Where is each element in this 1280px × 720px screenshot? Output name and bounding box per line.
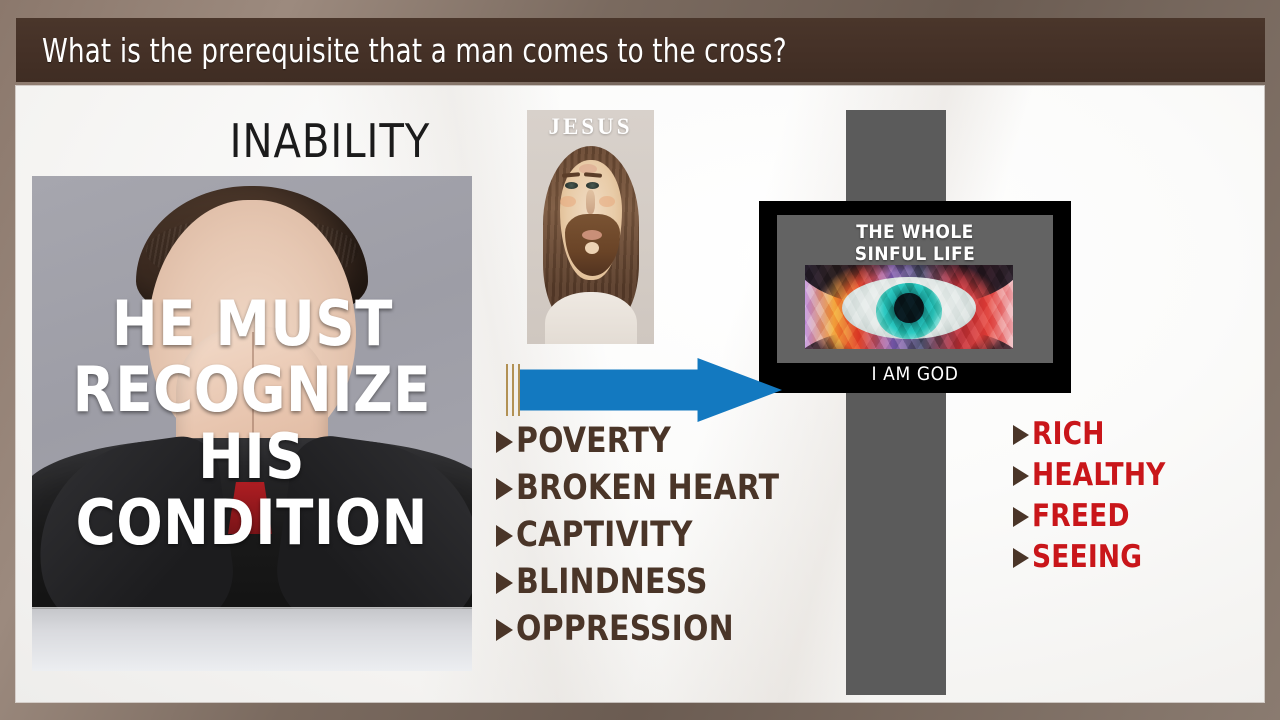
overlay-line-4: CONDITION	[76, 491, 428, 555]
framed-box-title-line1: THE WHOLE	[777, 221, 1053, 243]
list-item: CAPTIVITY	[496, 518, 793, 553]
jesus-image-label: JESUS	[527, 114, 654, 140]
list-item: FREED	[1013, 501, 1173, 532]
condition-item-label: POVERTY	[516, 424, 671, 459]
triangle-bullet-icon	[496, 478, 513, 500]
triangle-bullet-icon	[496, 431, 513, 453]
inability-heading: INABILITY	[155, 118, 504, 164]
framed-box-caption: I AM GOD	[759, 363, 1071, 385]
framed-box-title-line2: SINFUL LIFE	[777, 243, 1053, 265]
list-item: BLINDNESS	[496, 565, 793, 600]
list-item: RICH	[1013, 419, 1173, 450]
outcome-item-label: SEEING	[1032, 542, 1142, 573]
eye-polygon-texture	[805, 265, 1013, 349]
arrow-tail-stripes	[506, 364, 522, 416]
list-item: POVERTY	[496, 424, 793, 459]
triangle-bullet-icon	[1013, 507, 1029, 527]
triangle-bullet-icon	[1013, 425, 1029, 445]
triangle-bullet-icon	[496, 525, 513, 547]
triangle-bullet-icon	[1013, 466, 1029, 486]
jesus-chin-shape	[585, 242, 599, 254]
photo-overlay-text: HE MUST RECOGNIZE HIS CONDITION	[32, 176, 472, 671]
sinful-life-framed-box: THE WHOLE SINFUL LIFE I AM GOD	[759, 201, 1071, 393]
list-item: HEALTHY	[1013, 460, 1173, 491]
triangle-bullet-icon	[1013, 548, 1029, 568]
overlay-line-1: HE MUST	[111, 292, 392, 356]
triangle-bullet-icon	[496, 619, 513, 641]
condition-list: POVERTY BROKEN HEART CAPTIVITY BLINDNESS…	[496, 424, 793, 659]
list-item: OPPRESSION	[496, 612, 793, 647]
jesus-robe-shape	[545, 292, 637, 344]
condition-item-label: BLINDNESS	[516, 565, 708, 600]
jesus-portrait-image: JESUS	[527, 110, 654, 344]
slide-canvas: What is the prerequisite that a man come…	[0, 0, 1280, 720]
low-poly-eye-image	[805, 265, 1013, 349]
triangle-bullet-icon	[496, 572, 513, 594]
page-title: What is the prerequisite that a man come…	[42, 34, 787, 67]
cross-vertical-bar	[846, 110, 946, 695]
jesus-left-eye	[565, 182, 578, 189]
condition-item-label: BROKEN HEART	[516, 471, 779, 506]
blue-right-arrow	[506, 358, 782, 422]
outcome-item-label: RICH	[1032, 419, 1105, 450]
man-covering-face-photo: HE MUST RECOGNIZE HIS CONDITION	[32, 176, 472, 671]
overlay-line-3: HIS	[199, 425, 306, 489]
jesus-nose-shape	[586, 190, 595, 214]
arrow-body	[518, 358, 782, 422]
condition-item-label: CAPTIVITY	[516, 518, 693, 553]
jesus-left-cheek	[560, 196, 576, 207]
condition-item-label: OPPRESSION	[516, 612, 734, 647]
outcome-item-label: HEALTHY	[1032, 460, 1166, 491]
outcome-item-label: FREED	[1032, 501, 1130, 532]
jesus-right-cheek	[599, 196, 615, 207]
jesus-right-eye	[586, 182, 599, 189]
list-item: BROKEN HEART	[496, 471, 793, 506]
framed-box-title: THE WHOLE SINFUL LIFE	[777, 221, 1053, 266]
slide-title-bar: What is the prerequisite that a man come…	[16, 18, 1265, 82]
jesus-mouth-shape	[582, 230, 602, 240]
outcome-list: RICH HEALTHY FREED SEEING	[1013, 419, 1173, 583]
list-item: SEEING	[1013, 542, 1173, 573]
overlay-line-2: RECOGNIZE	[73, 358, 431, 422]
